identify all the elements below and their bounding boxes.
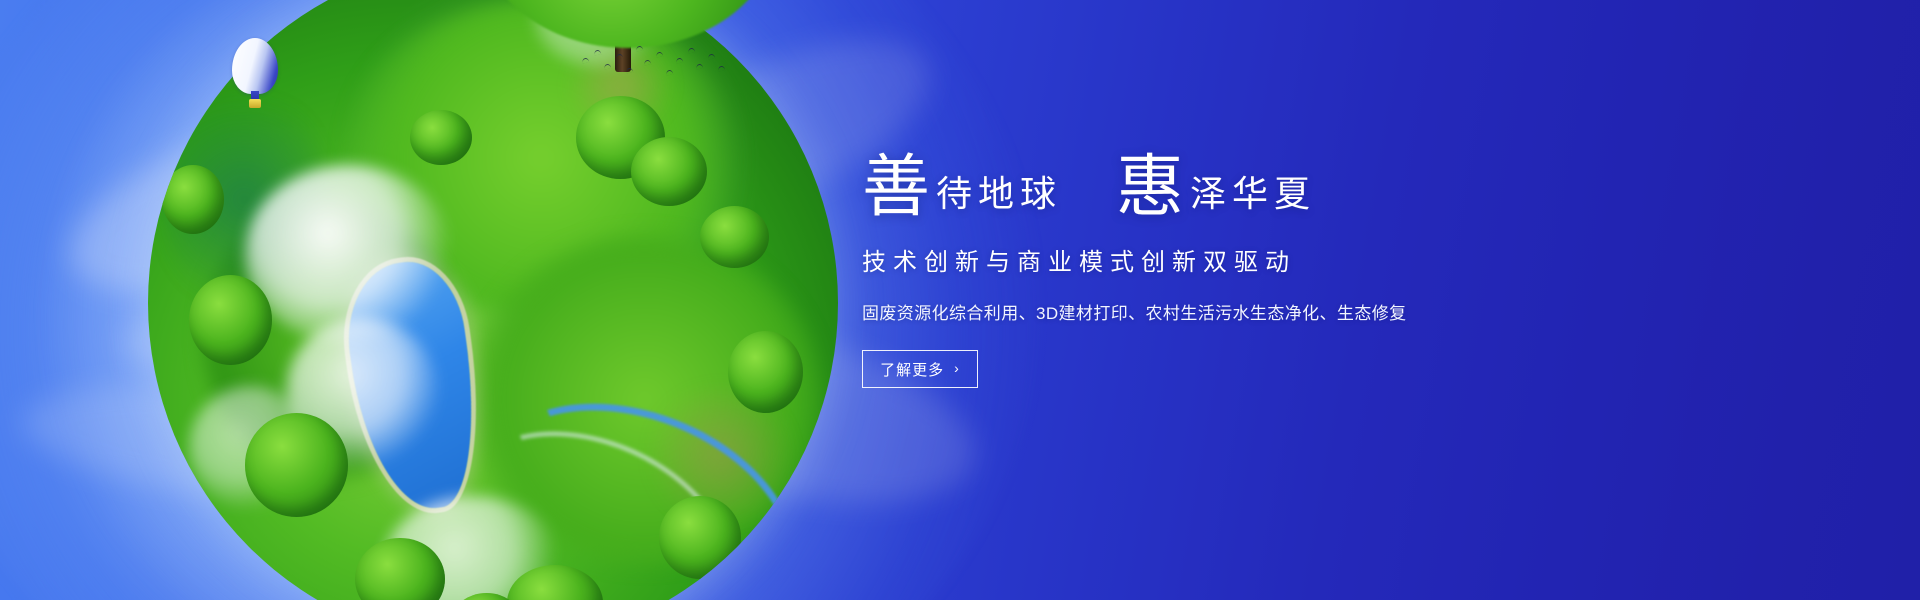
tree-icon: [245, 413, 349, 517]
tree-icon: [410, 110, 472, 165]
headline-accent-char: 善: [862, 155, 930, 220]
bird-icon: [616, 54, 624, 60]
bird-icon: [688, 48, 696, 54]
bird-icon: [676, 58, 684, 64]
balloon-basket: [249, 99, 261, 108]
learn-more-label: 了解更多: [880, 359, 944, 380]
banner-subtitle: 技术创新与商业模式创新双驱动: [862, 242, 1502, 277]
banner-content: 善 待地球 惠 泽华夏 技术创新与商业模式创新双驱动 固废资源化综合利用、3D建…: [862, 128, 1502, 388]
headline-phrase-1: 善 待地球: [862, 155, 1062, 220]
bird-icon: [636, 46, 644, 52]
bird-icon: [644, 60, 652, 66]
tree-icon: [700, 206, 769, 268]
bird-icon: [594, 50, 602, 56]
tree-icon: [659, 496, 742, 579]
bird-icon: [666, 70, 674, 76]
chevron-right-icon: ›: [954, 361, 960, 375]
bird-icon: [718, 66, 726, 72]
hot-air-balloon-icon: [232, 38, 278, 112]
headline-phrase-2: 惠 泽华夏: [1116, 155, 1316, 220]
headline-rest-chars: 待地球: [930, 176, 1062, 212]
learn-more-button[interactable]: 了解更多 ›: [862, 350, 978, 388]
bird-icon: [604, 64, 612, 70]
bird-icon: [656, 52, 664, 58]
bird-icon: [696, 64, 704, 70]
banner-headline: 善 待地球 惠 泽华夏: [862, 128, 1502, 220]
headline-accent-char: 惠: [1116, 155, 1184, 220]
banner-description: 固废资源化综合利用、3D建材打印、农村生活污水生态净化、生态修复: [862, 299, 1502, 324]
headline-rest-chars: 泽华夏: [1184, 176, 1316, 212]
hero-banner: 善 待地球 惠 泽华夏 技术创新与商业模式创新双驱动 固废资源化综合利用、3D建…: [0, 0, 1920, 600]
bird-icon: [708, 54, 716, 60]
tree-icon: [189, 275, 272, 365]
bird-icon: [582, 58, 590, 64]
tree-icon: [631, 137, 707, 206]
bird-icon: [626, 68, 634, 74]
balloon-envelope: [232, 38, 278, 94]
bird-flock-icon: [578, 44, 728, 90]
tree-icon: [162, 165, 224, 234]
